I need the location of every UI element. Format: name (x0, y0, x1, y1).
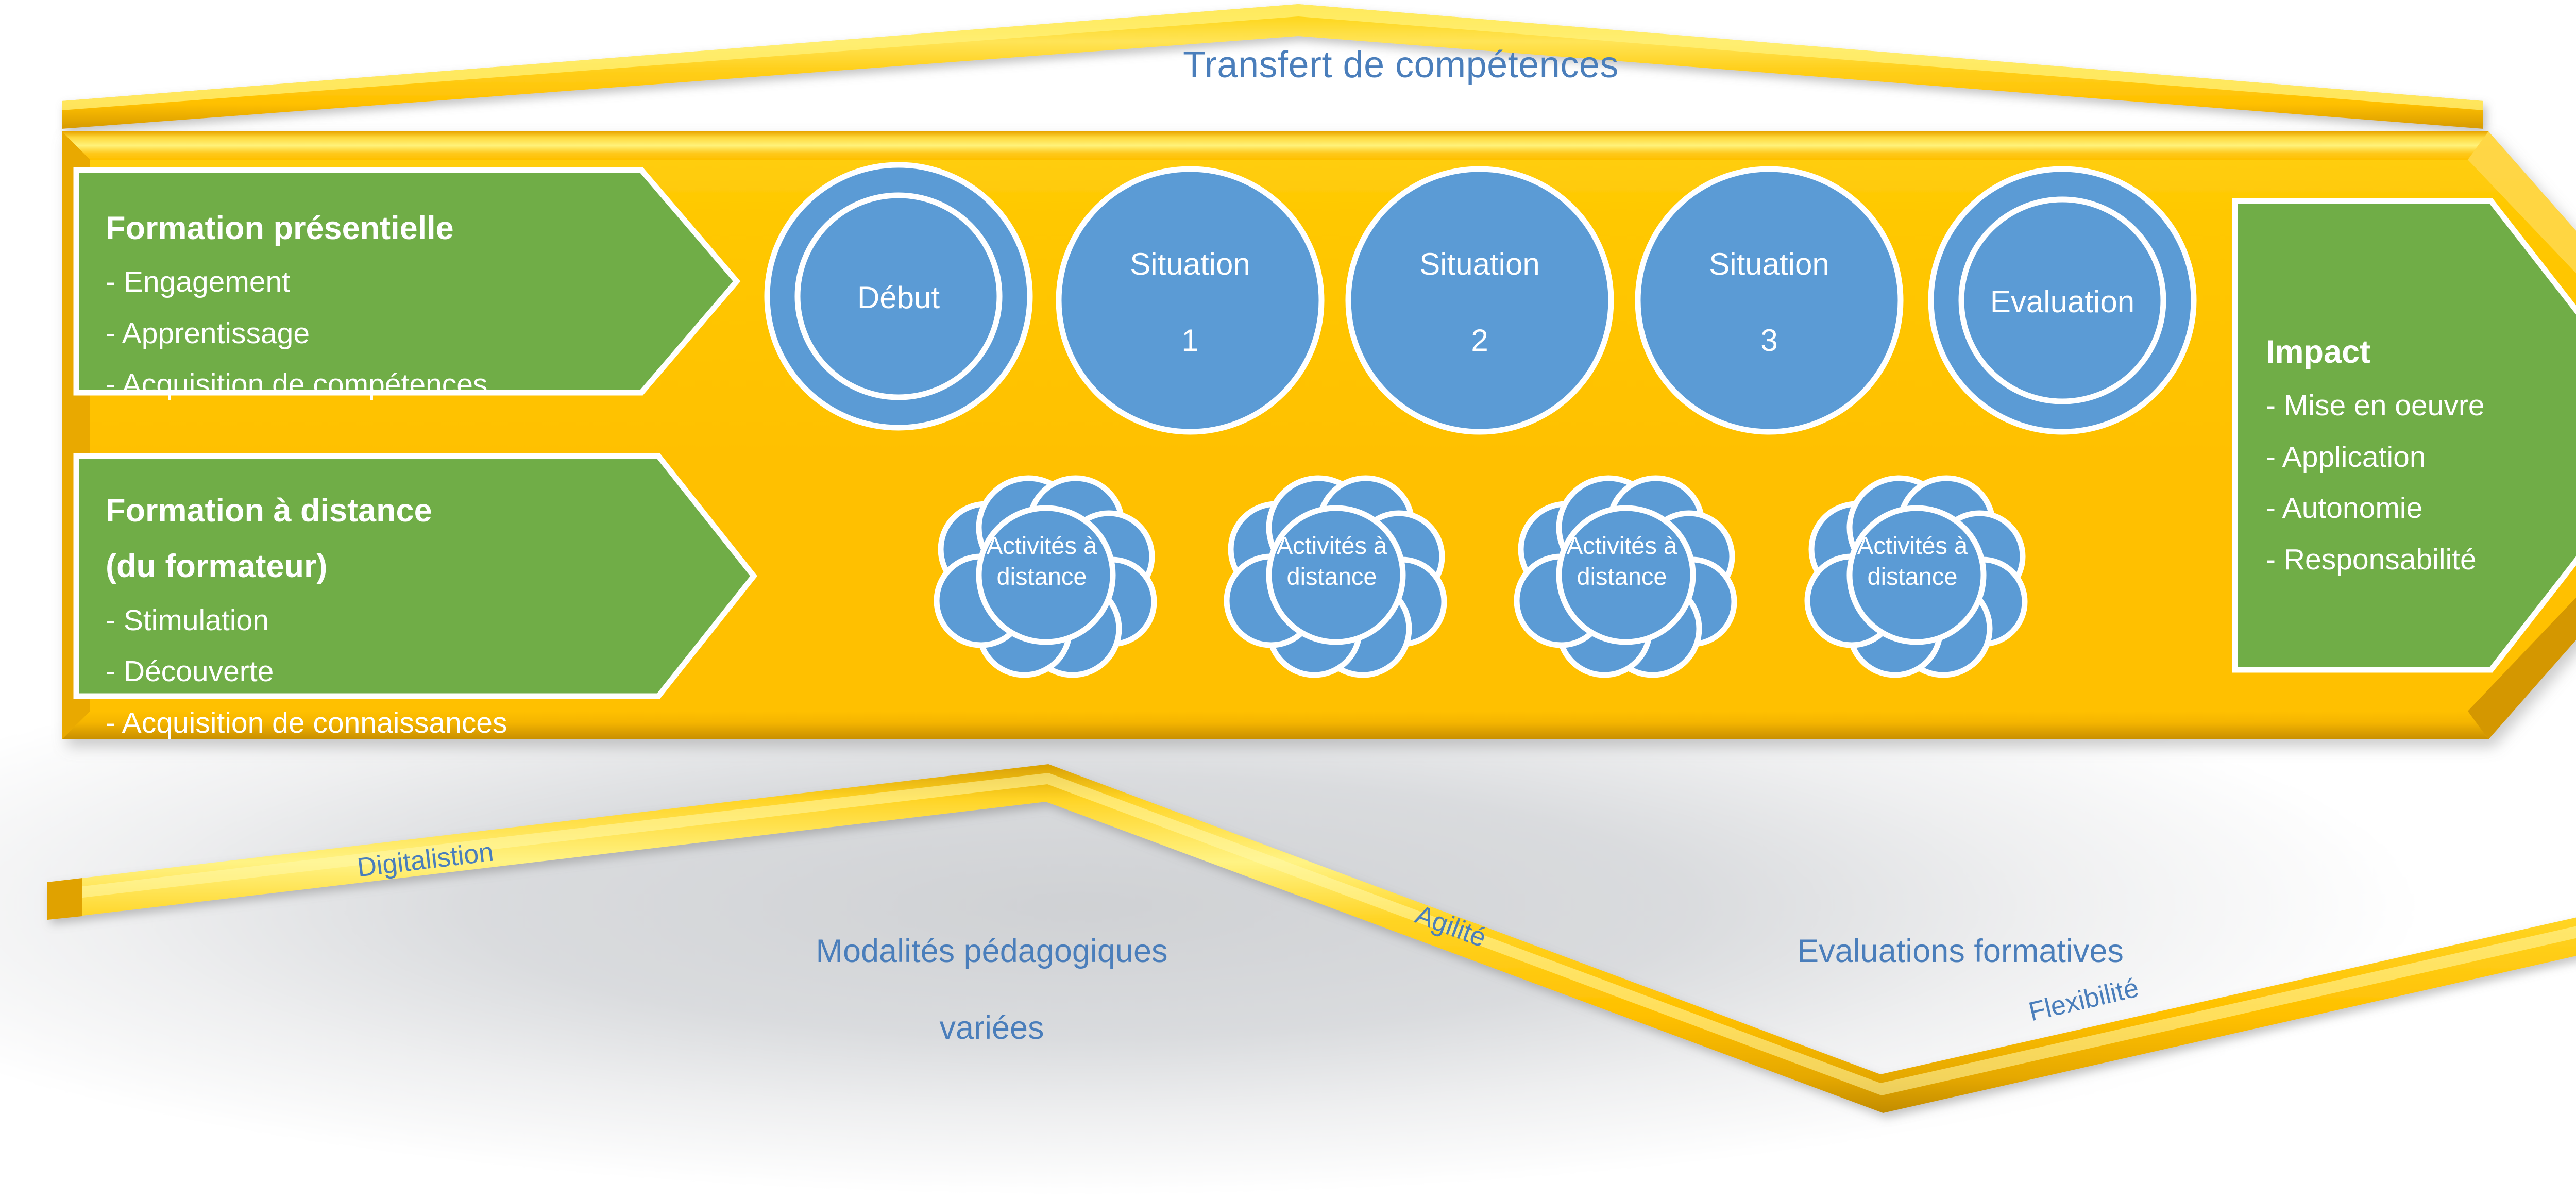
green-box-impact-item-4: - Responsabilité (2266, 544, 2576, 577)
circle-label-situation-1-num: 1 (1103, 322, 1278, 359)
green-box-distance-item-1: - Stimulation (106, 604, 672, 637)
flow-label-evaluations: Evaluations formatives (1695, 894, 2190, 1009)
cloud-label-2-line2: distance (1247, 562, 1417, 591)
green-box-impact-title: Impact (2266, 334, 2576, 370)
diagram-canvas: Transfert de compétences Formation prése… (0, 0, 2576, 1198)
green-box-distance-item-2: - Découverte (106, 655, 672, 688)
circle-label-evaluation: Evaluation (1975, 283, 2150, 320)
green-box-distance-title: Formation à distance (106, 493, 672, 529)
flow-label-evaluations-line1: Evaluations formatives (1797, 933, 2124, 969)
circle-label-situation-1: Situation (1103, 245, 1278, 283)
green-box-distance-item-3: - Acquisition de connaissances (106, 707, 672, 740)
green-box-impact-item-2: - Application (2266, 441, 2576, 474)
cloud-label-2-line1: Activités à (1247, 531, 1417, 560)
cloud-label-1-line1: Activités à (957, 531, 1127, 560)
green-box-distance-subtitle: (du formateur) (106, 548, 672, 585)
green-box-presentiel-item-3: - Acquisition de compétences (106, 368, 652, 401)
circle-label-situation-3: Situation (1682, 245, 1857, 283)
circle-label-situation-3-num: 3 (1682, 322, 1857, 359)
circle-label-situation-2: Situation (1392, 245, 1567, 283)
cloud-label-3-line1: Activités à (1537, 531, 1707, 560)
green-box-presentiel-item-2: - Apprentissage (106, 317, 652, 350)
cloud-label-4-line2: distance (1827, 562, 1997, 591)
green-box-impact-item-1: - Mise en oeuvre (2266, 390, 2576, 423)
page-title: Transfert de compétences (0, 44, 2576, 86)
circle-label-situation-2-num: 2 (1392, 322, 1567, 359)
cloud-label-4-line1: Activités à (1827, 531, 1997, 560)
green-box-impact-item-3: - Autonomie (2266, 492, 2576, 525)
green-box-impact-text: Impact - Mise en oeuvre - Application - … (2266, 315, 2576, 595)
green-box-presentiel-text: Formation présentielle - Engagement - Ap… (106, 192, 652, 420)
green-box-presentiel-item-1: - Engagement (106, 266, 652, 299)
flow-label-modalites-line1: Modalités pédagogiques (816, 933, 1168, 969)
cloud-label-3-line2: distance (1537, 562, 1707, 591)
flow-label-modalites: Modalités pédagogiques variées (711, 894, 1236, 1086)
cloud-label-1-line2: distance (957, 562, 1127, 591)
flow-label-modalites-line2: variées (939, 1010, 1044, 1046)
green-box-presentiel-title: Formation présentielle (106, 210, 652, 247)
bottom-zigzag-arrow (47, 764, 2576, 1113)
green-box-distance-text: Formation à distance (du formateur) - St… (106, 474, 672, 758)
circle-label-debut: Début (811, 279, 986, 316)
